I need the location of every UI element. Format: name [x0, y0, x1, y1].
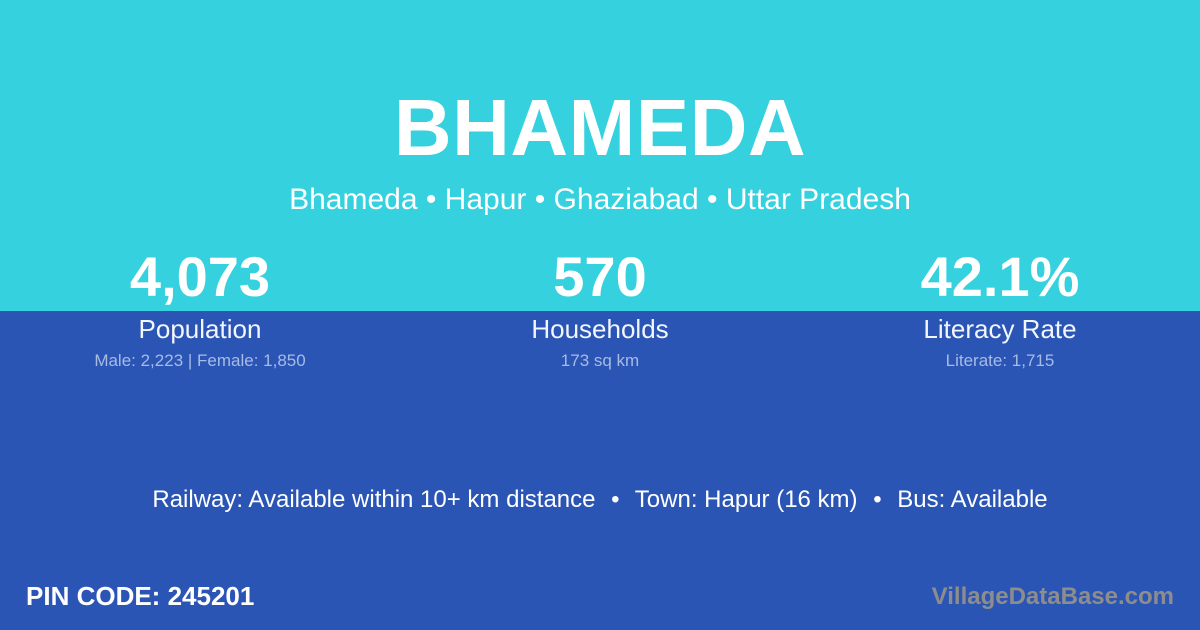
stat-households: 570 Households 173 sq km [400, 243, 800, 372]
amenity-separator-2: • [864, 485, 890, 515]
page-title: BHAMEDA [0, 84, 1200, 172]
pin-code: PIN CODE: 245201 [26, 580, 254, 612]
stat-sub-population: Male: 2,223 | Female: 1,850 [0, 350, 400, 372]
amenity-town: Town: Hapur (16 km) [635, 486, 858, 513]
stat-value-population: 4,073 [0, 243, 400, 311]
amenity-railway: Railway: Available within 10+ km distanc… [152, 486, 595, 513]
brand-watermark: VillageDataBase.com [932, 582, 1174, 612]
amenity-separator-1: • [602, 485, 628, 515]
village-info-card: BHAMEDA Bhameda • Hapur • Ghaziabad • Ut… [0, 0, 1200, 630]
stat-population: 4,073 Population Male: 2,223 | Female: 1… [0, 243, 400, 372]
stat-label-households: Households [400, 313, 800, 345]
amenities-line: Railway: Available within 10+ km distanc… [0, 485, 1200, 515]
stat-label-population: Population [0, 313, 400, 345]
stats-row: 4,073 Population Male: 2,223 | Female: 1… [0, 243, 1200, 372]
amenity-bus: Bus: Available [897, 486, 1047, 513]
stat-label-literacy-rate: Literacy Rate [800, 313, 1200, 345]
footer: PIN CODE: 245201 VillageDataBase.com [0, 568, 1200, 630]
stat-sub-households: 173 sq km [400, 350, 800, 372]
stat-value-households: 570 [400, 243, 800, 311]
stat-value-literacy-rate: 42.1% [800, 243, 1200, 311]
breadcrumb: Bhameda • Hapur • Ghaziabad • Uttar Prad… [0, 182, 1200, 218]
stat-literacy-rate: 42.1% Literacy Rate Literate: 1,715 [800, 243, 1200, 372]
stat-sub-literacy-rate: Literate: 1,715 [800, 350, 1200, 372]
